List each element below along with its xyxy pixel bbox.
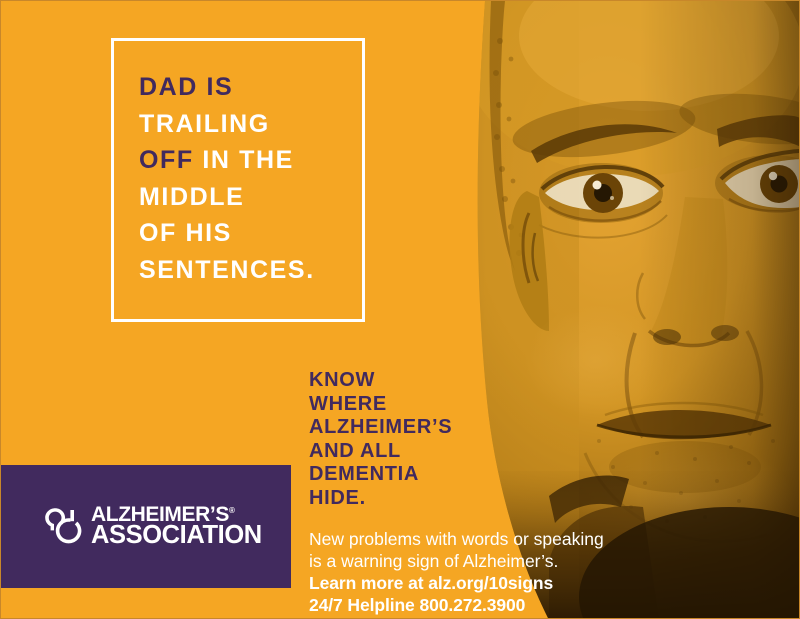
logo-wordmark: ALZHEIMER’S® ASSOCIATION	[91, 505, 262, 549]
subhead-line-4: AND ALL	[309, 440, 452, 464]
subhead-line-1: KNOW	[309, 369, 452, 393]
subhead-line-2: WHERE	[309, 393, 452, 417]
logo-band: ALZHEIMER’S® ASSOCIATION	[1, 465, 291, 588]
subhead-line-5: DEMENTIA	[309, 463, 452, 487]
helpline-phone[interactable]: 24/7 Helpline 800.272.3900	[309, 594, 604, 616]
headline-line-1: DAD IS	[139, 69, 379, 106]
headline-line-3: OFF IN THE	[139, 142, 379, 179]
two-heads-logo-mark	[41, 505, 85, 549]
headline-line-5: OF HIS	[139, 215, 379, 252]
headline: DAD IS TRAILING OFF IN THE MIDDLE OF HIS…	[139, 69, 379, 288]
headline-line-2: TRAILING	[139, 106, 379, 143]
alzheimers-association-logo[interactable]: ALZHEIMER’S® ASSOCIATION	[41, 505, 262, 549]
headline-line-6: SENTENCES.	[139, 252, 379, 289]
logo-line-association: ASSOCIATION	[91, 524, 262, 548]
body-copy-line-1: New problems with words or speaking	[309, 528, 604, 550]
advertisement-poster: DAD IS TRAILING OFF IN THE MIDDLE OF HIS…	[0, 0, 800, 619]
registered-trademark-icon: ®	[229, 506, 235, 515]
subhead-line-3: ALZHEIMER’S	[309, 416, 452, 440]
body-copy-line-2: is a warning sign of Alzheimer’s.	[309, 550, 604, 572]
learn-more-link[interactable]: Learn more at alz.org/10signs	[309, 572, 604, 594]
portrait-photo	[399, 1, 799, 618]
subhead-line-6: HIDE.	[309, 487, 452, 511]
subhead: KNOW WHERE ALZHEIMER’S AND ALL DEMENTIA …	[309, 369, 452, 510]
body-copy: New problems with words or speaking is a…	[309, 528, 604, 616]
headline-line-3-emphasis: OFF	[139, 146, 194, 174]
headline-line-3-rest: IN THE	[194, 146, 294, 174]
headline-line-4: MIDDLE	[139, 179, 379, 216]
